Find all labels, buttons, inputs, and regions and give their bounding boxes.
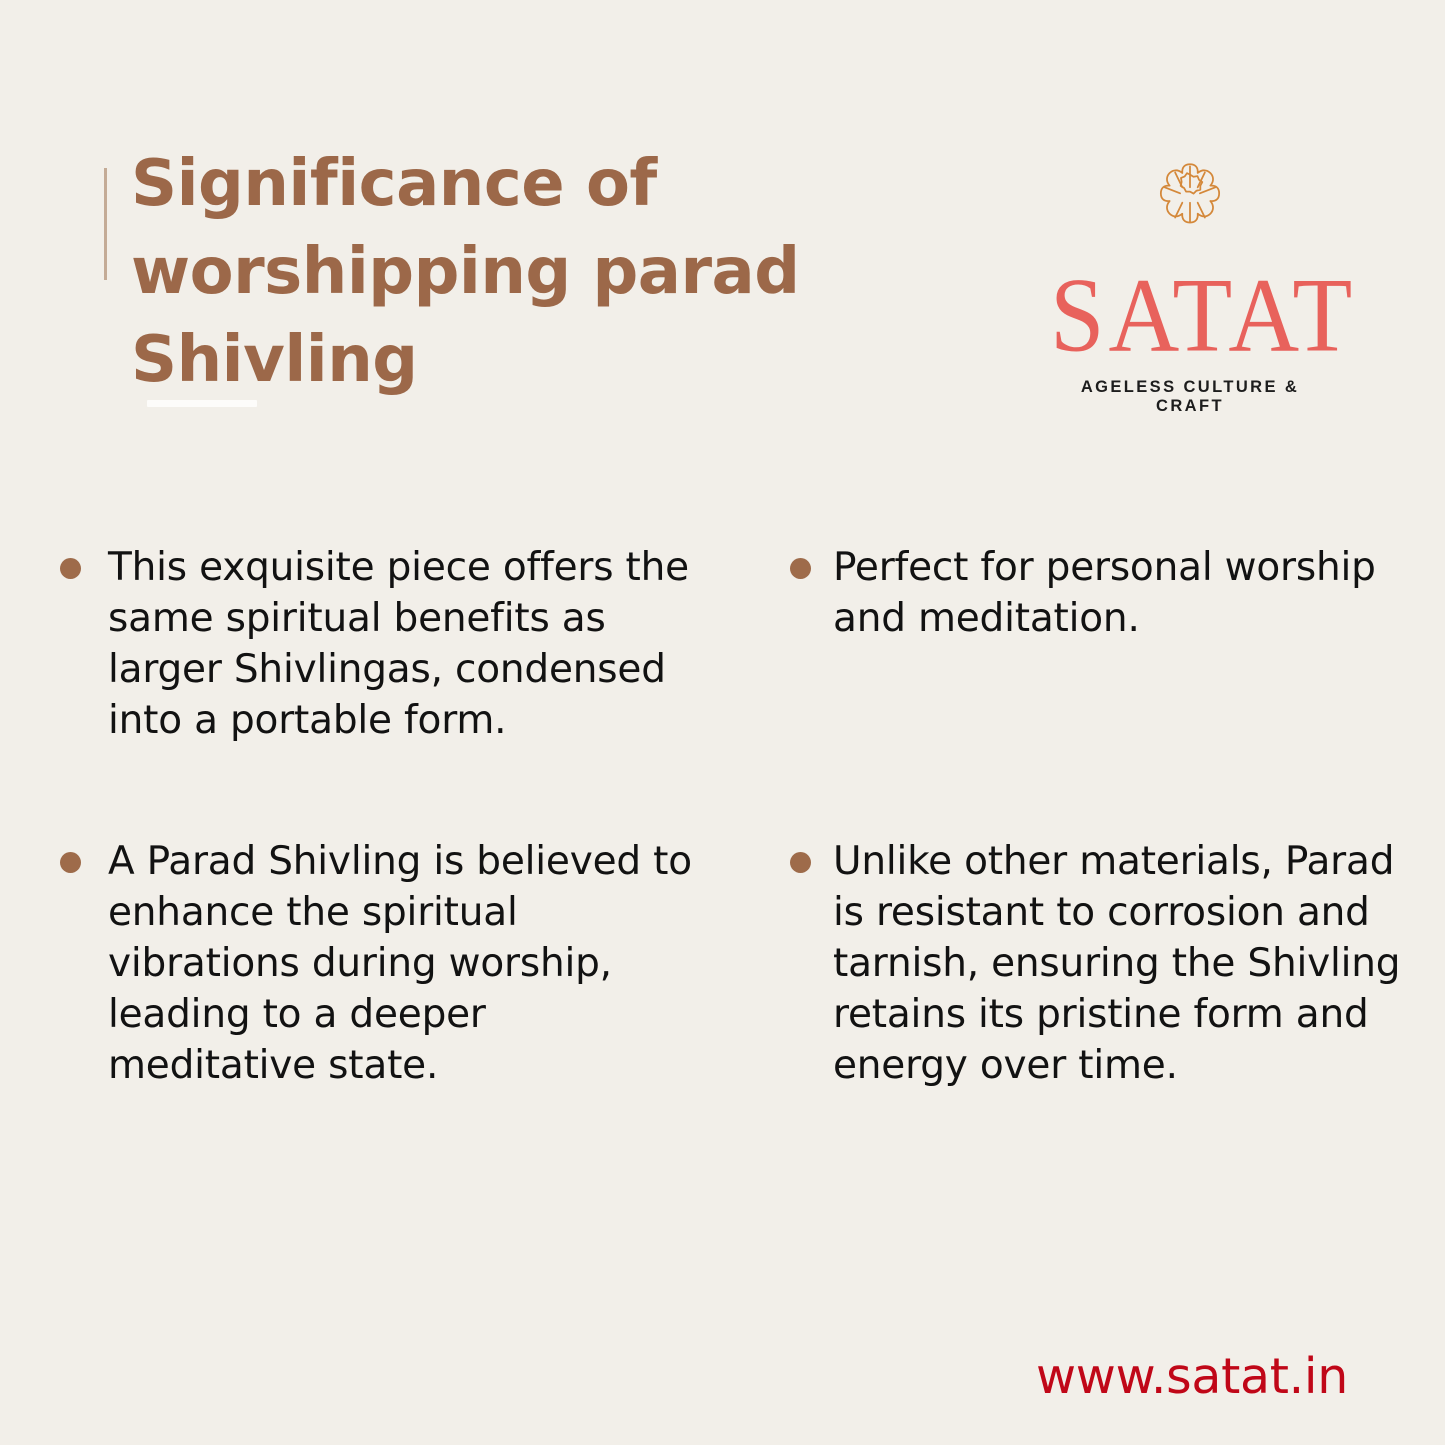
list-item-text: Perfect for personal worship and meditat… [833, 542, 1410, 644]
page-title: Significance of worshipping parad Shivli… [131, 140, 861, 404]
bullet-dot-icon [790, 558, 811, 579]
logo-wordmark: SATAT [1050, 260, 1330, 372]
list-item: Unlike other materials, Parad is resista… [790, 836, 1410, 1091]
bullet-dot-icon [60, 852, 81, 873]
brand-logo: SATAT AGELESS CULTURE & CRAFT [1050, 140, 1330, 400]
list-item-text: A Parad Shivling is believed to enhance … [108, 836, 700, 1091]
logo-tagline: AGELESS CULTURE & CRAFT [1050, 378, 1330, 416]
website-url[interactable]: www.satat.in [1036, 1348, 1348, 1406]
bullet-columns: This exquisite piece offers the same spi… [0, 520, 1445, 1240]
list-item: A Parad Shivling is believed to enhance … [60, 836, 700, 1091]
title-accent-rule [104, 168, 107, 280]
bullet-dot-icon [60, 558, 81, 579]
list-item: This exquisite piece offers the same spi… [60, 542, 700, 746]
title-underline [147, 400, 257, 407]
poster-canvas: Significance of worshipping parad Shivli… [0, 0, 1445, 1445]
poster-header: Significance of worshipping parad Shivli… [0, 0, 1445, 430]
list-item-text: Unlike other materials, Parad is resista… [833, 836, 1410, 1091]
list-item: Perfect for personal worship and meditat… [790, 542, 1410, 644]
poster-footer: www.satat.in [0, 1330, 1445, 1445]
list-item-text: This exquisite piece offers the same spi… [108, 542, 700, 746]
bullet-dot-icon [790, 852, 811, 873]
flower-mandala-icon [1135, 140, 1245, 250]
